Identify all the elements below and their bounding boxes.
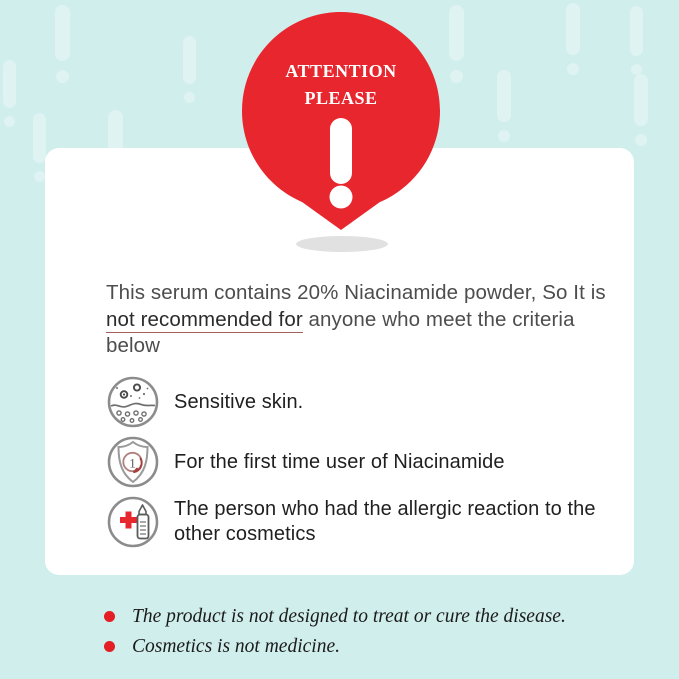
list-item: Sensitive skin.: [106, 375, 616, 429]
balloon-title-line1: Attention: [285, 56, 396, 83]
bullet-dot-icon: [104, 611, 115, 622]
exclamation-mark-icon: [566, 3, 580, 75]
poster-canvas: Attention Please This serum contains 20%…: [0, 0, 679, 679]
intro-text-before: This serum contains 20% Niacinamide powd…: [106, 281, 606, 304]
balloon-shadow: [296, 236, 388, 252]
svg-text:1: 1: [129, 456, 136, 471]
footer-note-text: The product is not designed to treat or …: [132, 605, 566, 629]
sensitive-skin-icon: [106, 375, 160, 429]
exclamation-bar: [330, 118, 352, 184]
exclamation-dot: [330, 186, 353, 209]
red-cross-icon: [120, 512, 137, 529]
exclamation-mark-icon: [183, 36, 196, 103]
exclamation-mark-icon: [634, 74, 648, 146]
bullet-dot-icon: [104, 641, 115, 652]
exclamation-mark-icon: [630, 6, 643, 75]
exclamation-mark-icon: [55, 5, 70, 83]
list-item: The person who had the allergic reaction…: [106, 495, 616, 549]
allergic-reaction-cosmetics-icon: [106, 495, 160, 549]
list-item: Cosmetics is not medicine.: [104, 635, 644, 659]
list-item: 1 For the first time user of Niacinamide: [106, 435, 616, 489]
exclamation-mark-icon: [449, 5, 464, 83]
list-item-label: The person who had the allergic reaction…: [174, 497, 616, 547]
first-time-user-shield-icon: 1: [106, 435, 160, 489]
exclamation-mark-icon: [497, 70, 511, 142]
footer-note-text: Cosmetics is not medicine.: [132, 635, 340, 659]
balloon-title: Attention Please: [242, 56, 440, 110]
list-item-label: For the first time user of Niacinamide: [174, 450, 505, 475]
balloon-title-line2: Please: [242, 83, 440, 110]
intro-paragraph: This serum contains 20% Niacinamide powd…: [106, 280, 606, 360]
footer-notes: The product is not designed to treat or …: [104, 605, 644, 665]
list-item: The product is not designed to treat or …: [104, 605, 644, 629]
intro-text-emphasis: not recommended for: [106, 308, 303, 333]
list-item-label: Sensitive skin.: [174, 390, 303, 415]
criteria-list: Sensitive skin. 1 For the first time use…: [106, 375, 616, 555]
attention-balloon: Attention Please: [242, 12, 440, 230]
balloon-shape-icon: [242, 12, 440, 230]
exclamation-mark-icon: [3, 60, 16, 127]
